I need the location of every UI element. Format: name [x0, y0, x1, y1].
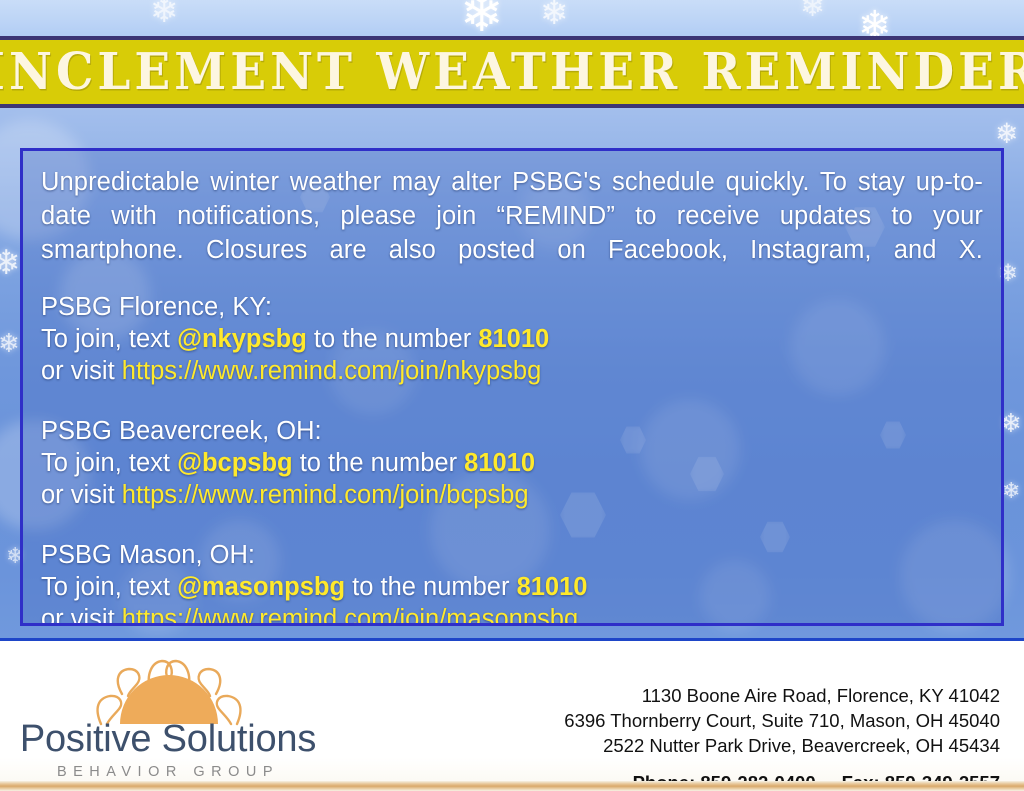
- remind-handle: @bcpsbg: [177, 449, 293, 477]
- remind-url[interactable]: https://www.remind.com/join/nkypsbg: [122, 357, 542, 385]
- join-middle: to the number: [307, 325, 479, 353]
- location-name: PSBG Florence, KY:: [41, 291, 983, 323]
- sun-icon: [84, 646, 254, 726]
- snowflake-icon: ❄: [995, 120, 1018, 148]
- remind-handle: @nkypsbg: [177, 325, 307, 353]
- remind-number: 81010: [517, 573, 588, 601]
- content-panel: Unpredictable winter weather may alter P…: [20, 148, 1004, 626]
- snowflake-icon: ❄: [0, 330, 20, 356]
- location-visit-line: or visit https://www.remind.com/join/bcp…: [41, 479, 983, 511]
- visit-prefix: or visit: [41, 481, 122, 509]
- remind-number: 81010: [478, 325, 549, 353]
- location-block-mason: PSBG Mason, OH: To join, text @masonpsbg…: [41, 539, 983, 626]
- page-title: INCLEMENT WEATHER REMINDER: [0, 42, 1024, 101]
- location-block-beavercreek: PSBG Beavercreek, OH: To join, text @bcp…: [41, 415, 983, 511]
- visit-prefix: or visit: [41, 605, 122, 626]
- remind-handle: @masonpsbg: [177, 573, 345, 601]
- snowflake-icon: ❄: [0, 246, 21, 280]
- logo-company-name: Positive Solutions: [18, 718, 318, 761]
- snowflake-icon: ❄: [1002, 480, 1020, 502]
- intro-paragraph: Unpredictable winter weather may alter P…: [41, 165, 983, 267]
- logo-tagline: BEHAVIOR GROUP: [18, 764, 318, 780]
- sky-top-strip: [0, 0, 1024, 36]
- join-prefix: To join, text: [41, 449, 177, 477]
- location-visit-line: or visit https://www.remind.com/join/mas…: [41, 603, 983, 626]
- remind-number: 81010: [464, 449, 535, 477]
- footer: Positive Solutions BEHAVIOR GROUP 1130 B…: [0, 638, 1024, 791]
- inclement-weather-flyer: ❄ ❄ ❄ ❄ ❄ ❄ ❄ ❄ ❄ ❄ ❄ ❄ INCLEMENT WEATHE…: [0, 0, 1024, 791]
- join-prefix: To join, text: [41, 573, 177, 601]
- remind-url[interactable]: https://www.remind.com/join/bcpsbg: [122, 481, 529, 509]
- address-line: 6396 Thornberry Court, Suite 710, Mason,…: [564, 708, 1000, 733]
- contact-info: 1130 Boone Aire Road, Florence, KY 41042…: [564, 683, 1000, 791]
- join-prefix: To join, text: [41, 325, 177, 353]
- visit-prefix: or visit: [41, 357, 122, 385]
- address-line: 2522 Nutter Park Drive, Beavercreek, OH …: [564, 733, 1000, 758]
- join-middle: to the number: [345, 573, 517, 601]
- address-line: 1130 Boone Aire Road, Florence, KY 41042: [564, 683, 1000, 708]
- location-name: PSBG Mason, OH:: [41, 539, 983, 571]
- title-banner: INCLEMENT WEATHER REMINDER: [0, 36, 1024, 108]
- location-visit-line: or visit https://www.remind.com/join/nky…: [41, 355, 983, 387]
- location-name: PSBG Beavercreek, OH:: [41, 415, 983, 447]
- location-join-line: To join, text @nkypsbg to the number 810…: [41, 323, 983, 355]
- location-block-florence: PSBG Florence, KY: To join, text @nkypsb…: [41, 291, 983, 387]
- location-join-line: To join, text @bcpsbg to the number 8101…: [41, 447, 983, 479]
- remind-url[interactable]: https://www.remind.com/join/masonpsbg: [122, 605, 578, 626]
- footer-bottom-rule: [0, 781, 1024, 791]
- join-middle: to the number: [293, 449, 465, 477]
- footer-top-rule: [0, 638, 1024, 641]
- company-logo: Positive Solutions BEHAVIOR GROUP: [18, 646, 318, 778]
- location-join-line: To join, text @masonpsbg to the number 8…: [41, 571, 983, 603]
